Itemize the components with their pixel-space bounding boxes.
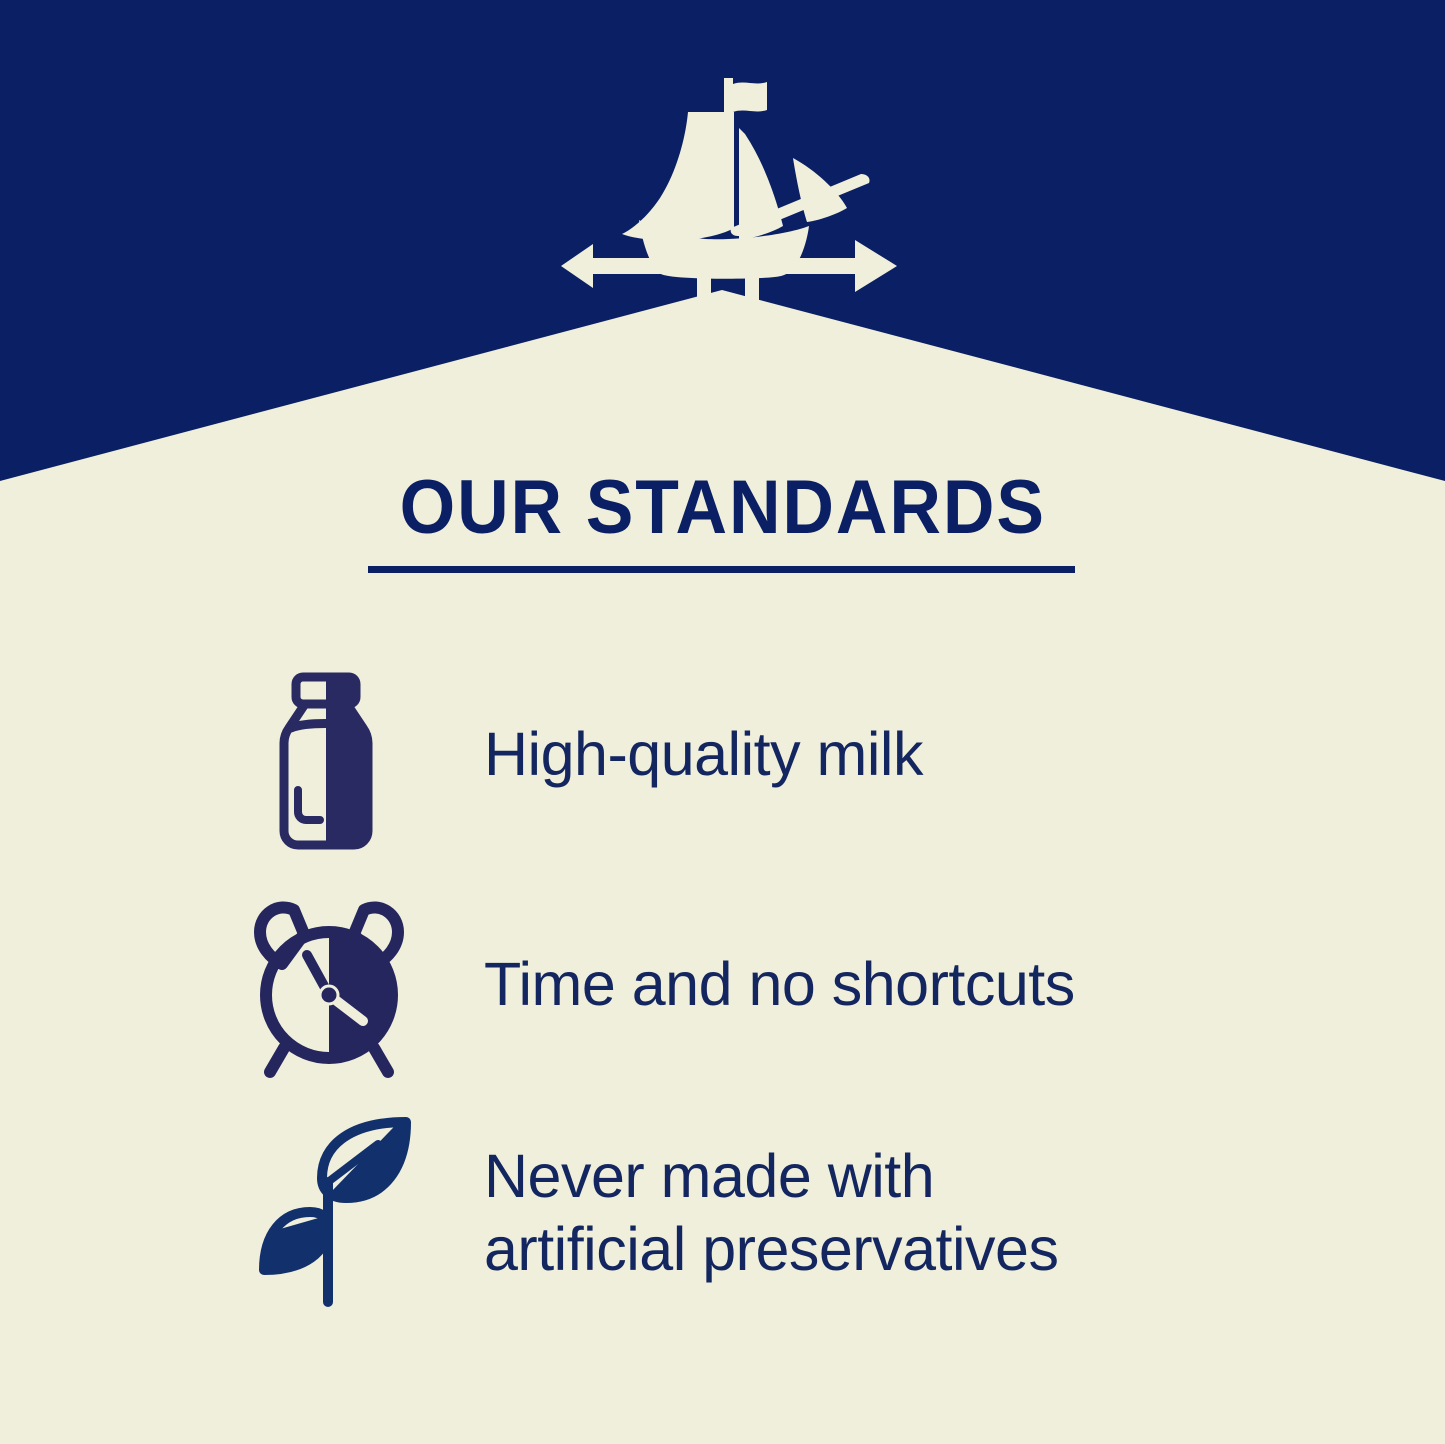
milk-bottle-icon bbox=[262, 660, 390, 850]
page-title: OUR STANDARDS bbox=[399, 466, 1045, 550]
alarm-clock-icon bbox=[250, 888, 408, 1082]
our-standards-panel: OUR STANDARDS bbox=[0, 0, 1445, 1444]
weathervane-ship-logo bbox=[543, 70, 903, 310]
title-underline-rule bbox=[368, 566, 1075, 573]
plant-sprout-icon bbox=[242, 1112, 418, 1308]
list-item-label: High-quality milk bbox=[484, 718, 923, 791]
list-item-label: Never made with artificial preservatives bbox=[484, 1140, 1058, 1286]
page-title-wrap: OUR STANDARDS bbox=[0, 466, 1445, 550]
list-item: Time and no shortcuts bbox=[0, 870, 1445, 1100]
list-item-label: Time and no shortcuts bbox=[484, 948, 1075, 1021]
list-item: Never made with artificial preservatives bbox=[0, 1100, 1445, 1330]
list-item: High-quality milk bbox=[0, 640, 1445, 870]
standards-list: High-quality milk bbox=[0, 640, 1445, 1330]
